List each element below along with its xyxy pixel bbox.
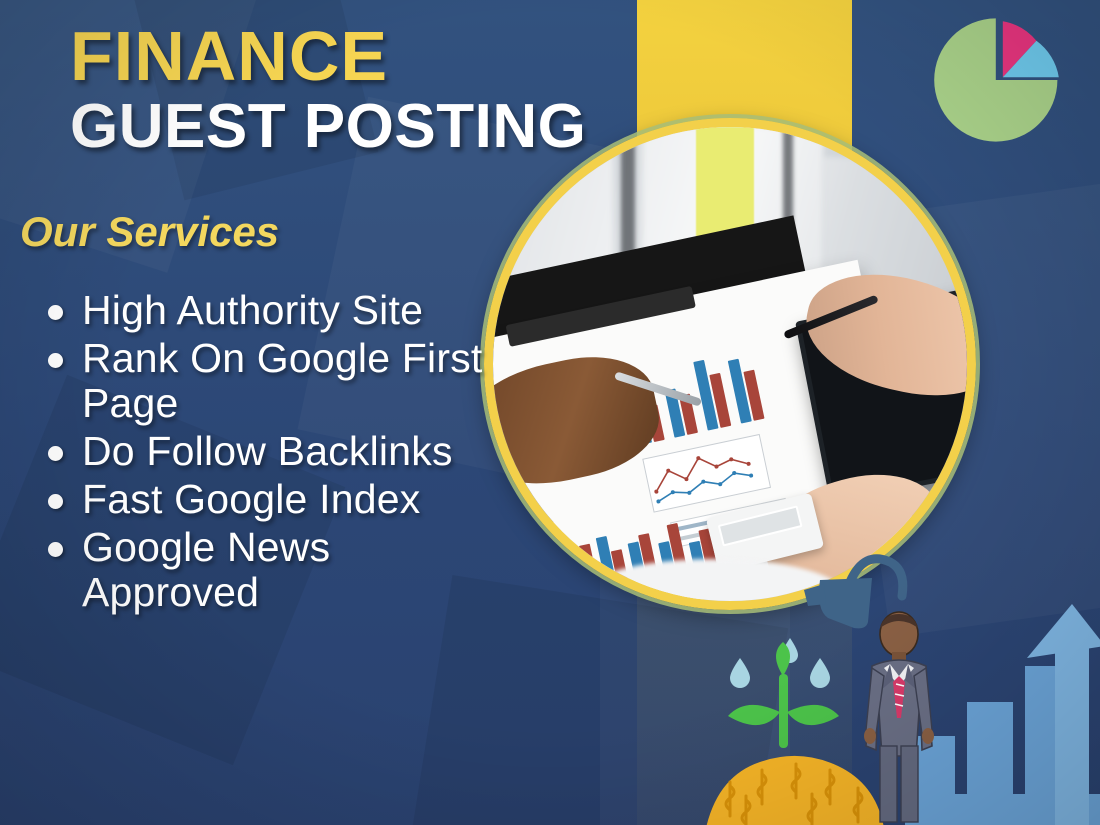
headline-group: FINANCE GUEST POSTING: [70, 22, 586, 158]
list-item: Do Follow Backlinks: [34, 429, 514, 473]
pie-chart-icon: [930, 10, 1070, 150]
services-list: High Authority Site Rank On Google First…: [34, 288, 514, 618]
list-item: Google News Approved: [34, 525, 514, 614]
finance-growth-illustration: [690, 540, 1100, 825]
list-item: Rank On Google First Page: [34, 336, 514, 425]
businessman-icon: [850, 610, 948, 825]
finance-meeting-photo: [484, 118, 976, 610]
list-item: High Authority Site: [34, 288, 514, 332]
poster-canvas: FINANCE GUEST POSTING Our Services High …: [0, 0, 1100, 825]
list-item: Fast Google Index: [34, 477, 514, 521]
page-title-primary: FINANCE: [70, 22, 586, 91]
page-title-secondary: GUEST POSTING: [70, 95, 586, 158]
services-heading: Our Services: [20, 208, 279, 256]
